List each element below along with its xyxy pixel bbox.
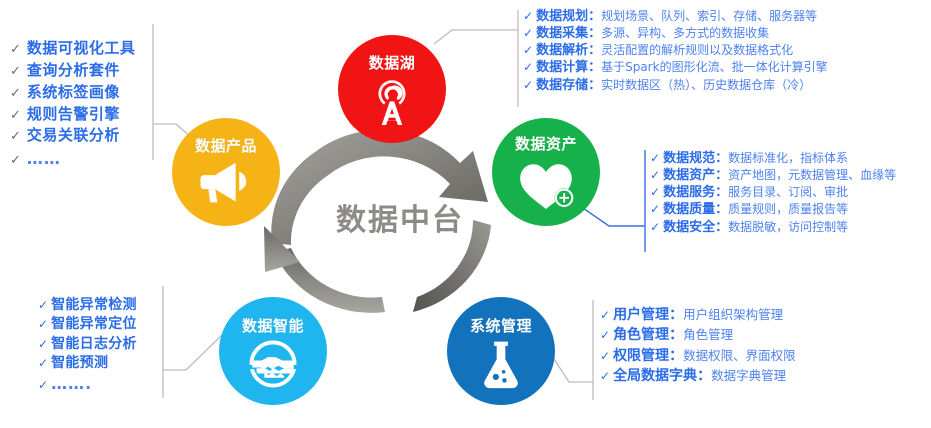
list-item-separator: ：	[588, 59, 601, 76]
list-item-term: 权限管理	[613, 346, 669, 366]
ring-arc-right	[413, 220, 491, 312]
check-icon: ✓	[523, 78, 533, 94]
list-item: ✓数据规范：数据标准化，指标体系	[650, 150, 896, 167]
list-item: ✓数据存储：实时数据区（热）、历史数据仓库（冷）	[523, 77, 828, 94]
list-item: ✓智能异常检测	[38, 296, 137, 315]
list-item-description: 资产地图，元数据管理、血缘等	[728, 168, 896, 184]
list-item-ellipsis: ……	[27, 147, 61, 170]
list-item: ✓智能预测	[38, 354, 137, 373]
list-item-separator: ：	[715, 201, 728, 218]
list-item-term: 用户管理	[613, 305, 669, 325]
list-item-term: 规则告警引擎	[27, 104, 120, 126]
list-item-description: 规划场景、队列、索引、存储、服务器等	[601, 9, 817, 25]
list-item-term: 数据采集	[536, 25, 588, 42]
check-icon: ✓	[600, 327, 610, 344]
check-icon: ✓	[650, 151, 660, 167]
list-item-term: 数据资产	[663, 167, 715, 184]
list-item: ✓全局数据字典：数据字典管理	[600, 366, 796, 386]
list-item-separator: ：	[715, 184, 728, 201]
node-data-asset[interactable]: 数据资产	[492, 118, 600, 226]
check-icon: ✓	[38, 336, 48, 353]
check-icon: ✓	[10, 63, 21, 82]
list-item-term: 数据可视化工具	[27, 38, 136, 60]
text-block-data-asset: ✓数据规范：数据标准化，指标体系✓数据资产：资产地图，元数据管理、血缘等✓数据服…	[650, 150, 896, 236]
list-item-separator: ：	[588, 42, 601, 59]
check-icon: ✓	[650, 168, 660, 184]
check-icon: ✓	[650, 185, 660, 201]
check-icon: ✓	[600, 307, 610, 324]
list-item: ✓数据可视化工具	[10, 38, 135, 60]
list-item: ✓系统标签画像	[10, 82, 135, 104]
connector-data-lake-stub	[434, 30, 518, 44]
list-item-term: 查询分析套件	[27, 60, 120, 82]
check-icon: ✓	[523, 9, 533, 25]
list-item-separator: ：	[588, 77, 601, 94]
check-icon: ✓	[38, 316, 48, 333]
list-item-term: 智能日志分析	[51, 335, 137, 354]
flask-icon	[478, 339, 524, 393]
node-data-intel[interactable]: 数据智能	[219, 297, 327, 405]
text-block-system-admin: ✓用户管理：用户组织架构管理✓角色管理：角色管理✓权限管理：数据权限、界面权限✓…	[600, 305, 796, 386]
list-item-term: 数据服务	[663, 184, 715, 201]
list-item-ellipsis: …….	[51, 373, 92, 395]
list-item-term: 数据计算	[536, 59, 588, 76]
list-item-description: 服务目录、订阅、审批	[728, 185, 848, 201]
list-item-term: 角色管理	[613, 325, 669, 345]
list-item-description: 数据字典管理	[711, 367, 786, 385]
list-item-separator: ：	[588, 8, 601, 25]
check-icon: ✓	[523, 60, 533, 76]
node-data-lake-label: 数据湖	[369, 52, 416, 73]
check-icon: ✓	[10, 107, 21, 126]
list-item-term: 智能预测	[51, 354, 108, 373]
list-item: ✓交易关联分析	[10, 125, 135, 147]
list-item-term: 全局数据字典	[613, 366, 697, 386]
check-icon: ✓	[600, 368, 610, 385]
list-item-term: 数据规划	[536, 8, 588, 25]
list-item-separator: ：	[715, 219, 728, 236]
text-block-data-lake: ✓数据规划：规划场景、队列、索引、存储、服务器等✓数据采集：多源、异构、多方式的…	[523, 8, 828, 94]
list-item: ✓数据计算：基于Spark的图形化流、批一体化计算引擎	[523, 59, 828, 76]
list-item: ✓权限管理：数据权限、界面权限	[600, 346, 796, 366]
list-item-separator: ：	[715, 150, 728, 167]
list-item: ✓数据质量：质量规则，质量报告等	[650, 201, 896, 218]
connector-data-intel-stub	[163, 335, 222, 370]
list-item-description: 质量规则，质量报告等	[728, 202, 848, 218]
list-item: ✓数据安全：数据脱敏，访问控制等	[650, 219, 896, 236]
text-block-data-intel: ✓智能异常检测✓智能异常定位✓智能日志分析✓智能预测✓…….	[38, 296, 137, 395]
check-icon: ✓	[523, 26, 533, 42]
list-item: ✓数据采集：多源、异构、多方式的数据收集	[523, 25, 828, 42]
node-data-intel-label: 数据智能	[242, 315, 304, 336]
check-icon: ✓	[10, 128, 21, 147]
check-icon: ✓	[650, 202, 660, 218]
list-item: ✓……	[10, 147, 135, 171]
list-item: ✓数据解析：灵活配置的解析规则以及数据格式化	[523, 42, 828, 59]
list-item-separator: ：	[697, 366, 711, 386]
list-item-description: 多源、异构、多方式的数据收集	[601, 26, 769, 42]
list-item-term: 智能异常定位	[51, 315, 137, 334]
list-item-term: 数据规范	[663, 150, 715, 167]
list-item-term: 交易关联分析	[27, 125, 120, 147]
node-system-admin[interactable]: 系统管理	[447, 297, 555, 405]
check-icon: ✓	[10, 41, 21, 60]
list-item-term: 数据解析	[536, 42, 588, 59]
check-icon: ✓	[38, 297, 48, 314]
list-item-description: 数据脱敏，访问控制等	[728, 220, 848, 236]
heart-plus-icon	[515, 157, 577, 215]
list-item: ✓规则告警引擎	[10, 104, 135, 126]
list-item-term: 数据质量	[663, 201, 715, 218]
list-item-separator: ：	[669, 325, 683, 345]
list-item-description: 数据标准化，指标体系	[728, 151, 848, 167]
list-item-separator: ：	[715, 167, 728, 184]
list-item-term: 智能异常检测	[51, 296, 137, 315]
list-item: ✓用户管理：用户组织架构管理	[600, 305, 796, 325]
list-item: ✓查询分析套件	[10, 60, 135, 82]
list-item-separator: ：	[669, 346, 683, 366]
list-item-description: 用户组织架构管理	[683, 306, 783, 324]
node-data-product-label: 数据产品	[195, 135, 257, 156]
connector-data-asset-stub	[580, 206, 645, 226]
list-item: ✓…….	[38, 373, 137, 395]
list-item-description: 角色管理	[683, 326, 733, 344]
node-data-lake[interactable]: 数据湖	[338, 35, 446, 143]
list-item: ✓智能异常定位	[38, 315, 137, 334]
check-icon: ✓	[38, 377, 48, 394]
handshake-icon	[245, 339, 301, 393]
list-item-term: 系统标签画像	[27, 82, 120, 104]
list-item-description: 实时数据区（热）、历史数据仓库（冷）	[601, 78, 811, 94]
check-icon: ✓	[10, 85, 21, 104]
check-icon: ✓	[600, 348, 610, 365]
check-icon: ✓	[10, 152, 21, 171]
list-item: ✓智能日志分析	[38, 335, 137, 354]
broadcast-tower-icon	[365, 76, 419, 134]
list-item-term: 数据存储	[536, 77, 588, 94]
node-data-asset-label: 数据资产	[515, 133, 577, 154]
diagram-canvas: 数据中台 数据湖 数据资产 系统管理	[0, 0, 931, 428]
check-icon: ✓	[38, 355, 48, 372]
list-item: ✓数据规划：规划场景、队列、索引、存储、服务器等	[523, 8, 828, 25]
check-icon: ✓	[650, 220, 660, 236]
check-icon: ✓	[523, 43, 533, 59]
node-data-product[interactable]: 数据产品	[172, 118, 280, 226]
list-item: ✓角色管理：角色管理	[600, 325, 796, 345]
list-item-term: 数据安全	[663, 219, 715, 236]
ring-arc-top	[271, 130, 488, 245]
node-system-admin-label: 系统管理	[470, 315, 532, 336]
list-item-description: 灵活配置的解析规则以及数据格式化	[601, 43, 793, 59]
list-item-description: 基于Spark的图形化流、批一体化计算引擎	[601, 60, 827, 76]
megaphone-icon	[197, 159, 255, 211]
text-block-data-product: ✓数据可视化工具✓查询分析套件✓系统标签画像✓规则告警引擎✓交易关联分析✓……	[10, 38, 135, 171]
list-item-description: 数据权限、界面权限	[683, 347, 796, 365]
list-item-separator: ：	[669, 305, 683, 325]
list-item-separator: ：	[588, 25, 601, 42]
list-item: ✓数据资产：资产地图，元数据管理、血缘等	[650, 167, 896, 184]
list-item: ✓数据服务：服务目录、订阅、审批	[650, 184, 896, 201]
